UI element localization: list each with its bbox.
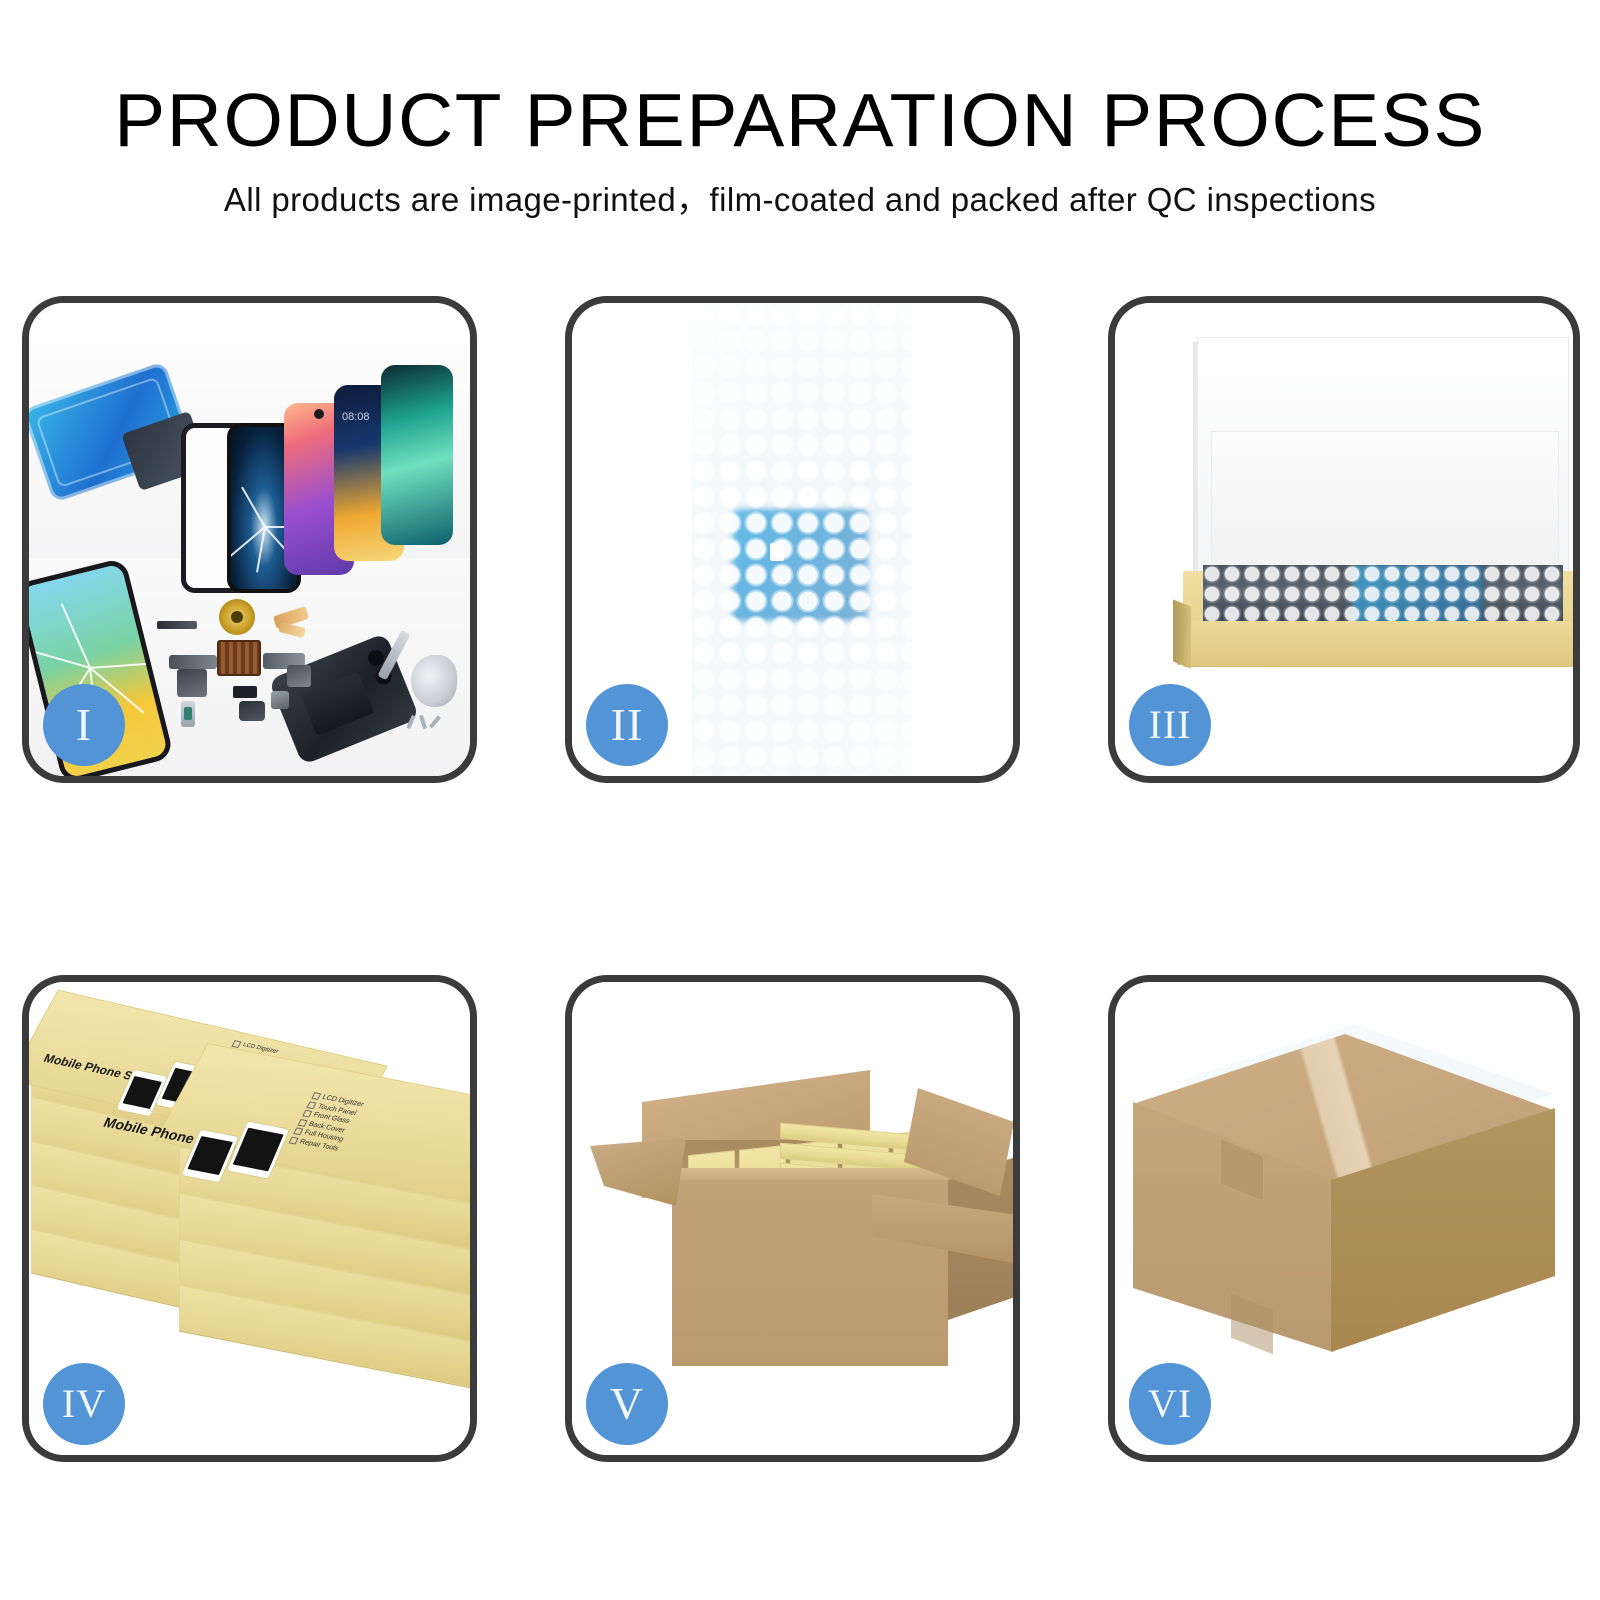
step-panel-5[interactable]: V xyxy=(565,975,1020,1462)
screws-part xyxy=(407,715,447,731)
camera-punch-hole-icon xyxy=(314,409,324,419)
step-badge-5: V xyxy=(586,1363,668,1445)
film-gloss-highlight xyxy=(692,303,912,776)
process-step-grid: 08:08 xyxy=(0,0,1600,1600)
green-display-phone xyxy=(381,365,453,545)
phone-clock-label: 08:08 xyxy=(342,411,370,423)
wireless-charging-coil-part xyxy=(219,599,255,635)
loudspeaker-part xyxy=(239,701,265,721)
carton-flap-left xyxy=(590,1138,686,1206)
gold-box-front-face xyxy=(1177,621,1573,665)
step-panel-1[interactable]: 08:08 xyxy=(22,296,477,783)
flex-cable-part-d xyxy=(177,669,207,697)
white-foam-insert xyxy=(1211,431,1559,583)
cleaning-brush-part xyxy=(411,655,457,707)
sim-tray-part xyxy=(181,701,195,727)
step-badge-1: I xyxy=(43,684,125,766)
sensor-module-part xyxy=(271,691,289,709)
boxed-bubble-texture xyxy=(1203,565,1563,623)
step-panel-4[interactable]: Mobile Phone Spare Parts LCD Digitizer T… xyxy=(22,975,477,1462)
boxed-wrapped-screen xyxy=(1203,565,1563,623)
step-badge-4: IV xyxy=(43,1363,125,1445)
gold-box-left-edge xyxy=(1173,599,1191,668)
step-badge-6: VI xyxy=(1129,1363,1211,1445)
battery-part xyxy=(300,672,374,736)
step-panel-2[interactable]: II xyxy=(565,296,1020,783)
connector-part xyxy=(233,686,257,698)
step-badge-2: II xyxy=(586,684,668,766)
flex-cable-part-c xyxy=(169,655,217,669)
flex-cable-part-f xyxy=(287,665,311,687)
ic-chip-part xyxy=(217,640,261,676)
step-badge-3: III xyxy=(1129,684,1211,766)
step-panel-3[interactable]: III xyxy=(1108,296,1580,783)
step-panel-6[interactable]: VI xyxy=(1108,975,1580,1462)
earpiece-speaker-part xyxy=(157,621,197,629)
